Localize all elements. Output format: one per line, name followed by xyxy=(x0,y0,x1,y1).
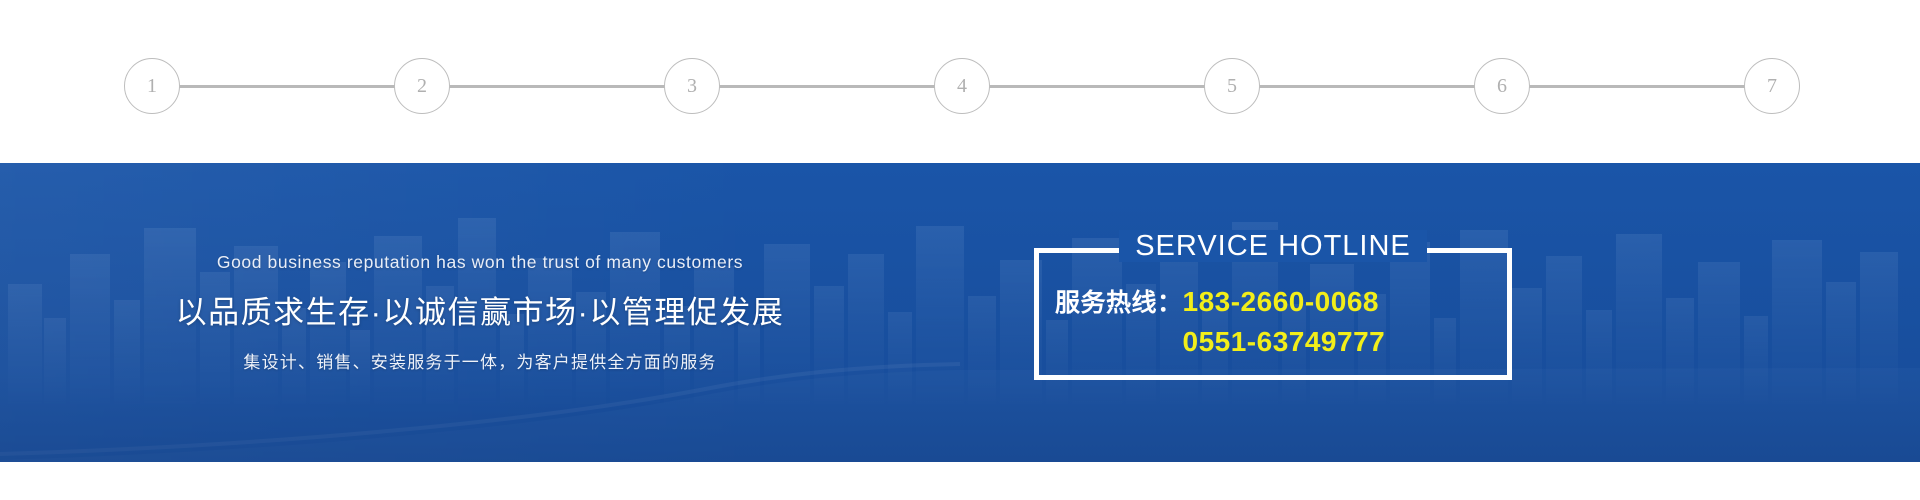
hotline-number-mobile[interactable]: 183-2660-0068 xyxy=(1183,286,1379,318)
hotline-rows: 服务热线： 183-2660-0068 服务热线： 0551-63749777 xyxy=(1039,283,1507,359)
step-connector-1-2 xyxy=(179,85,395,88)
step-connector-3-4 xyxy=(719,85,935,88)
hotline-label: 服务热线： xyxy=(1055,283,1183,319)
step-node-label: 5 xyxy=(1227,75,1237,98)
step-node-label: 6 xyxy=(1497,75,1507,98)
slogan-block: Good business reputation has won the tru… xyxy=(0,163,1000,462)
step-node-label: 4 xyxy=(957,75,967,98)
hotline-number-landline[interactable]: 0551-63749777 xyxy=(1183,326,1386,358)
step-node-4[interactable]: 4 xyxy=(934,58,990,114)
slogan-headline: 以品质求生存·以诚信赢市场·以管理促发展 xyxy=(176,287,785,332)
hotline-title: SERVICE HOTLINE xyxy=(1039,232,1507,261)
step-connector-6-7 xyxy=(1529,85,1745,88)
step-node-3[interactable]: 3 xyxy=(664,58,720,114)
step-node-7[interactable]: 7 xyxy=(1744,58,1800,114)
hotline-row-secondary: 服务热线： 0551-63749777 xyxy=(1055,323,1507,359)
step-node-5[interactable]: 5 xyxy=(1204,58,1260,114)
step-node-2[interactable]: 2 xyxy=(394,58,450,114)
step-connector-5-6 xyxy=(1259,85,1475,88)
step-node-label: 3 xyxy=(687,75,697,98)
hotline-row-primary: 服务热线： 183-2660-0068 xyxy=(1055,283,1507,319)
hotline-frame: SERVICE HOTLINE 服务热线： 183-2660-0068 服务热线… xyxy=(1034,248,1512,380)
step-connector-2-3 xyxy=(449,85,665,88)
step-node-1[interactable]: 1 xyxy=(124,58,180,114)
step-node-label: 1 xyxy=(147,75,157,98)
step-node-label: 2 xyxy=(417,75,427,98)
service-banner: Good business reputation has won the tru… xyxy=(0,163,1920,462)
slogan-english: Good business reputation has won the tru… xyxy=(217,252,743,273)
step-progress-bar: 1 2 3 4 5 6 7 xyxy=(0,0,1920,163)
step-connector-4-5 xyxy=(989,85,1205,88)
hotline-title-text: SERVICE HOTLINE xyxy=(1119,230,1427,262)
page-root: 1 2 3 4 5 6 7 xyxy=(0,0,1920,500)
step-node-label: 7 xyxy=(1767,75,1777,98)
step-node-6[interactable]: 6 xyxy=(1474,58,1530,114)
slogan-subline: 集设计、销售、安装服务于一体，为客户提供全方面的服务 xyxy=(243,348,716,373)
